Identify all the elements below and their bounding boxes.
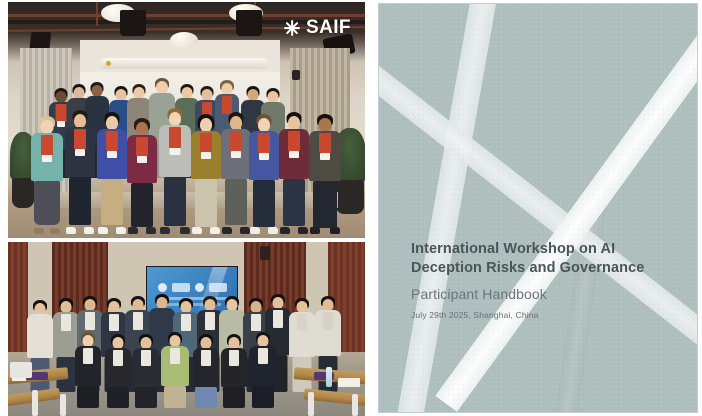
screen-logo-mark xyxy=(195,283,204,292)
person-figure xyxy=(248,114,280,234)
wall-camera xyxy=(292,70,300,80)
person-figure xyxy=(158,108,192,234)
person-figure xyxy=(190,114,222,234)
person-figure xyxy=(278,112,310,234)
cover-text-block: International Workshop on AI Deception R… xyxy=(411,240,673,321)
screen-logo-row xyxy=(155,281,229,293)
screenshot-root: SAIF xyxy=(0,0,702,416)
spot-lamp xyxy=(120,10,146,36)
screen-logo-mark xyxy=(209,283,227,292)
cover-title-line-1: International Workshop on AI xyxy=(411,240,673,259)
ceiling-pipe xyxy=(96,2,98,26)
chair xyxy=(60,394,66,416)
person-figure xyxy=(30,116,64,234)
chair xyxy=(352,394,358,416)
handbook-cover[interactable]: International Workshop on AI Deception R… xyxy=(378,3,698,413)
group-photo-bottom[interactable] xyxy=(8,242,365,416)
person-figure xyxy=(74,332,102,408)
saif-wordmark: SAIF xyxy=(306,18,351,37)
saif-logo: SAIF xyxy=(284,18,351,37)
photo-bottom-scene xyxy=(8,242,365,416)
screen-logo-mark xyxy=(172,283,190,292)
water-bottle xyxy=(326,367,332,387)
person-figure xyxy=(160,332,190,408)
person-figure xyxy=(104,334,132,408)
screen-logo-mark xyxy=(158,283,167,292)
chair xyxy=(10,362,32,378)
wall-speaker xyxy=(260,246,270,260)
group-photo-top[interactable]: SAIF xyxy=(8,2,365,238)
person-figure xyxy=(192,334,220,408)
cover-title-line-2: Deception Risks and Governance xyxy=(411,259,673,278)
chair xyxy=(308,392,314,416)
person-figure xyxy=(96,112,128,234)
cover-subtitle: Participant Handbook xyxy=(411,285,673,303)
chair xyxy=(32,390,38,416)
asterisk-icon xyxy=(284,20,300,36)
table-papers xyxy=(338,378,360,387)
photo-column: SAIF xyxy=(8,0,365,416)
person-figure xyxy=(126,118,158,234)
air-conditioner xyxy=(100,58,268,69)
spot-lamp xyxy=(236,10,262,36)
person-figure xyxy=(132,334,160,408)
pendant-light xyxy=(170,32,198,48)
person-figure xyxy=(248,332,278,408)
cover-date-location: July 29th 2025, Shanghai, China xyxy=(411,309,673,321)
person-figure xyxy=(308,114,342,234)
wood-panel-wall xyxy=(8,242,28,352)
person-figure xyxy=(64,110,96,234)
person-figure xyxy=(220,334,248,408)
